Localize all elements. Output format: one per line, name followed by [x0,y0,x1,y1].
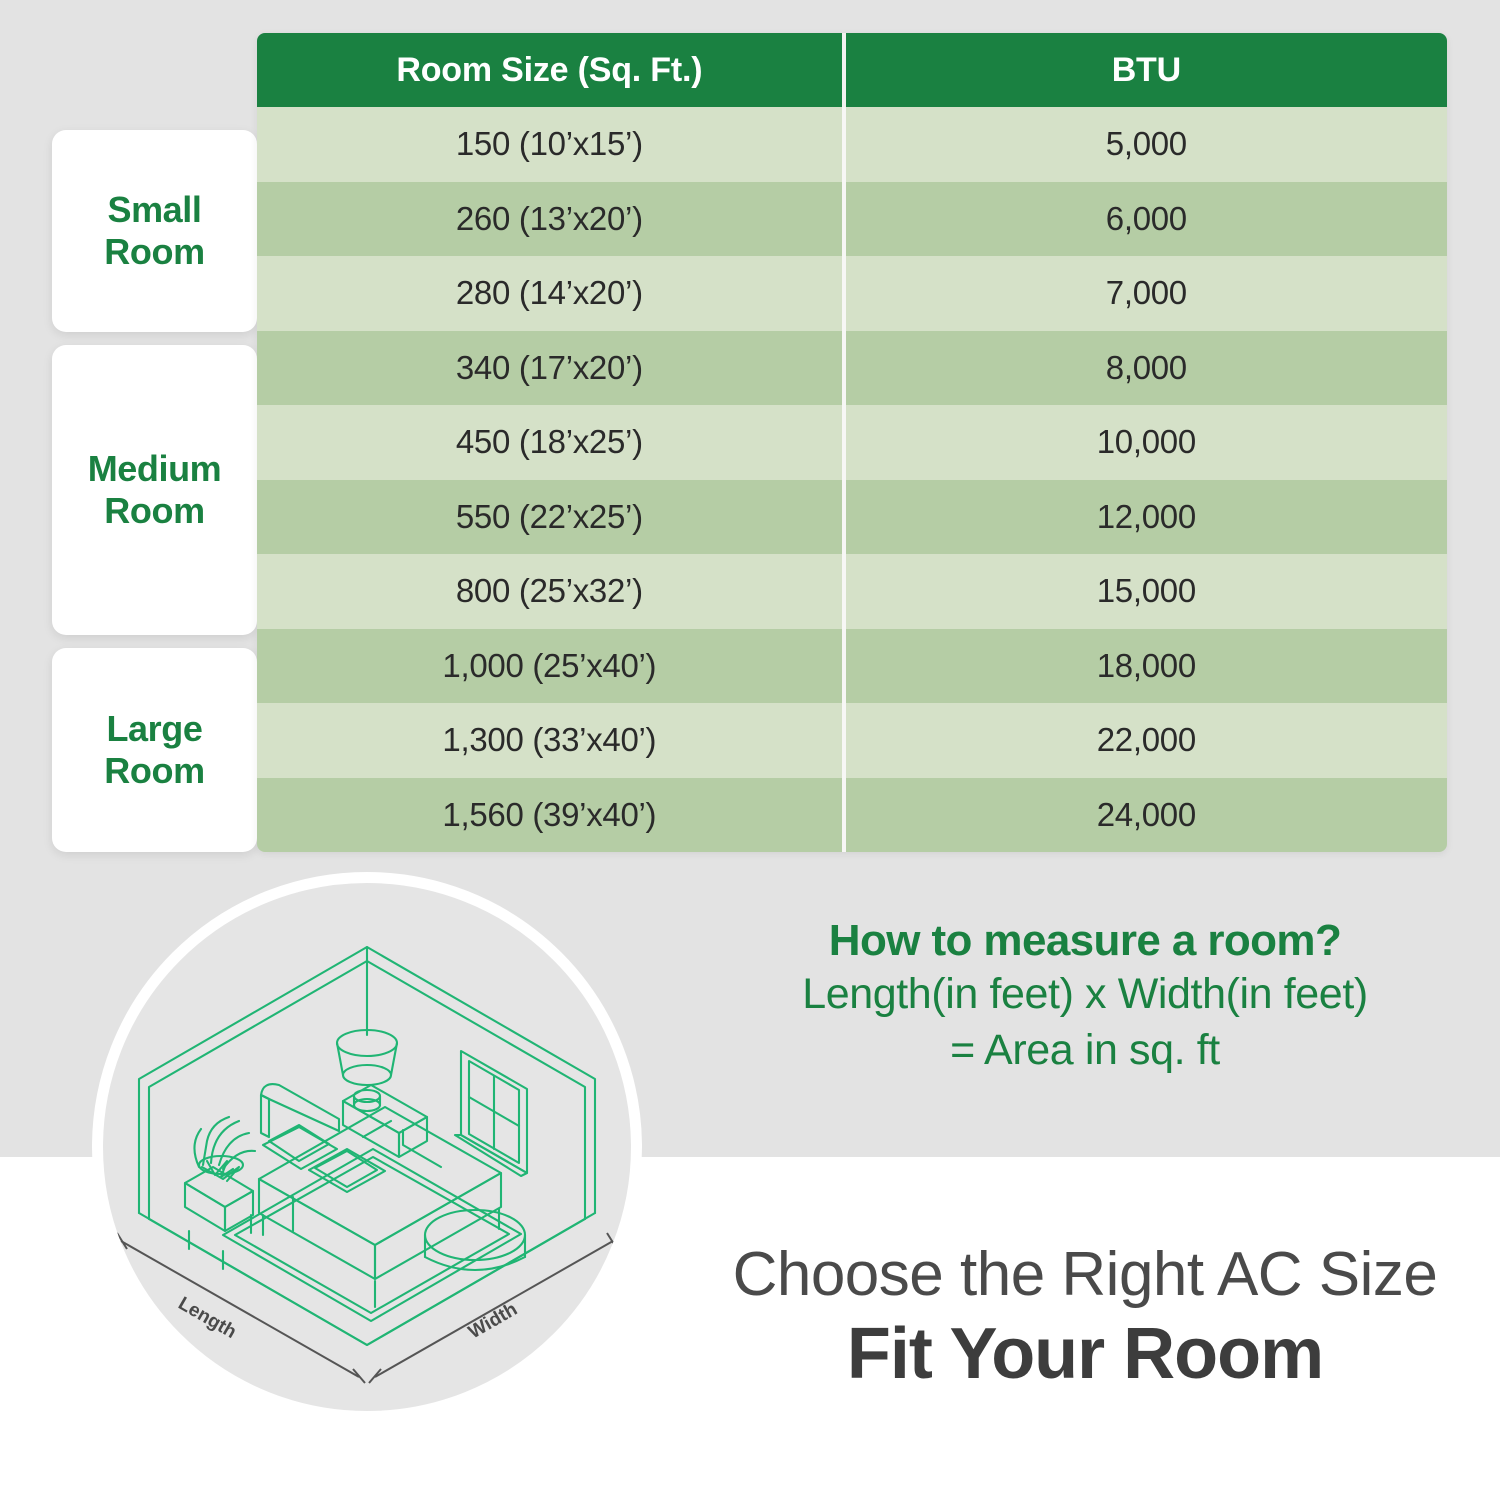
cell-btu: 15,000 [844,554,1447,629]
headline-title: Fit Your Room [690,1313,1480,1396]
cell-room-size: 280 (14’x20’) [257,256,844,331]
column-header-btu: BTU [844,33,1447,107]
btu-table-container: Room Size (Sq. Ft.) BTU 150 (10’x15’)5,0… [257,33,1447,852]
table-row: 150 (10’x15’)5,000 [257,107,1447,182]
category-card-medium-room: MediumRoom [52,345,257,635]
cell-room-size: 550 (22’x25’) [257,480,844,555]
length-dimension-label: Length [175,1293,240,1343]
table-row: 260 (13’x20’)6,000 [257,182,1447,257]
table-row: 340 (17’x20’)8,000 [257,331,1447,406]
headline-block: Choose the Right AC Size Fit Your Room [690,1240,1480,1396]
cell-btu: 10,000 [844,405,1447,480]
table-row: 550 (22’x25’)12,000 [257,480,1447,555]
btu-table-body: 150 (10’x15’)5,000260 (13’x20’)6,000280 … [257,107,1447,852]
cell-btu: 22,000 [844,703,1447,778]
cell-btu: 5,000 [844,107,1447,182]
column-header-room-size: Room Size (Sq. Ft.) [257,33,844,107]
btu-table: Room Size (Sq. Ft.) BTU 150 (10’x15’)5,0… [257,33,1447,852]
headline-subtitle: Choose the Right AC Size [690,1240,1480,1309]
table-row: 280 (14’x20’)7,000 [257,256,1447,331]
cell-room-size: 340 (17’x20’) [257,331,844,406]
how-to-measure-block: How to measure a room? Length(in feet) x… [690,915,1480,1079]
cell-room-size: 150 (10’x15’) [257,107,844,182]
cell-room-size: 1,300 (33’x40’) [257,703,844,778]
category-label-small: SmallRoom [104,189,204,273]
how-to-measure-title: How to measure a room? [690,915,1480,967]
category-card-large-room: LargeRoom [52,648,257,852]
cell-btu: 6,000 [844,182,1447,257]
table-row: 1,300 (33’x40’)22,000 [257,703,1447,778]
measure-formula-line-2: = Area in sq. ft [690,1023,1480,1079]
category-card-small-room: SmallRoom [52,130,257,332]
cell-room-size: 1,560 (39’x40’) [257,778,844,853]
table-header-row: Room Size (Sq. Ft.) BTU [257,33,1447,107]
cell-btu: 8,000 [844,331,1447,406]
width-dimension-label: Width [465,1299,521,1343]
table-row: 1,000 (25’x40’)18,000 [257,629,1447,704]
table-row: 450 (18’x25’)10,000 [257,405,1447,480]
cell-btu: 7,000 [844,256,1447,331]
cell-btu: 12,000 [844,480,1447,555]
room-illustration-panel: Length Width [92,872,642,1422]
category-label-medium: MediumRoom [88,448,222,532]
cell-room-size: 260 (13’x20’) [257,182,844,257]
cell-room-size: 1,000 (25’x40’) [257,629,844,704]
table-row: 1,560 (39’x40’)24,000 [257,778,1447,853]
measure-formula-line-1: Length(in feet) x Width(in feet) [690,967,1480,1023]
cell-btu: 18,000 [844,629,1447,704]
cell-room-size: 800 (25’x32’) [257,554,844,629]
table-row: 800 (25’x32’)15,000 [257,554,1447,629]
cell-btu: 24,000 [844,778,1447,853]
cell-room-size: 450 (18’x25’) [257,405,844,480]
category-label-large: LargeRoom [104,708,204,792]
isometric-bedroom-icon: Length Width [103,883,631,1411]
infographic-root: SmallRoom MediumRoom LargeRoom Room Size… [0,0,1500,1500]
